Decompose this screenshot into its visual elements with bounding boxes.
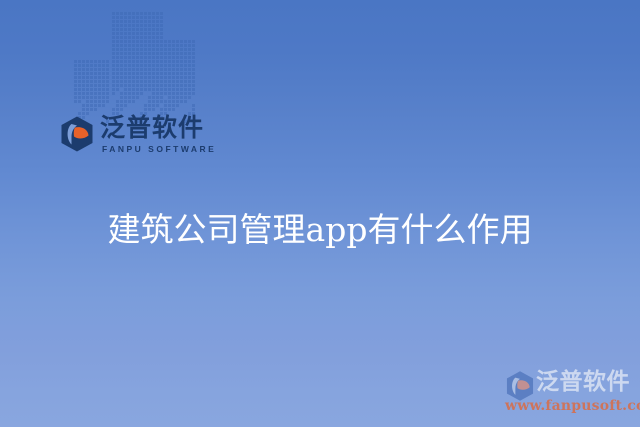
pixel-cityscape-graphic xyxy=(74,32,184,124)
right-tower xyxy=(160,40,196,124)
watermark-name-cn: 泛普软件 xyxy=(536,368,630,396)
page-title: 建筑公司管理app有什么作用 xyxy=(0,207,640,253)
logo-name-cn: 泛普软件 xyxy=(100,113,204,143)
fanpu-emblem-icon xyxy=(58,115,96,153)
fanpu-logo: 泛普软件 FANPU SOFTWARE xyxy=(58,113,198,165)
center-tower xyxy=(112,12,164,124)
watermark-url: www.fanpusoft.com xyxy=(505,398,640,414)
promo-banner: 泛普软件 FANPU SOFTWARE 建筑公司管理app有什么作用 泛普软件 … xyxy=(0,0,640,427)
site-watermark: 泛普软件 www.fanpusoft.com xyxy=(500,368,636,420)
logo-name-en: FANPU SOFTWARE xyxy=(102,144,216,154)
